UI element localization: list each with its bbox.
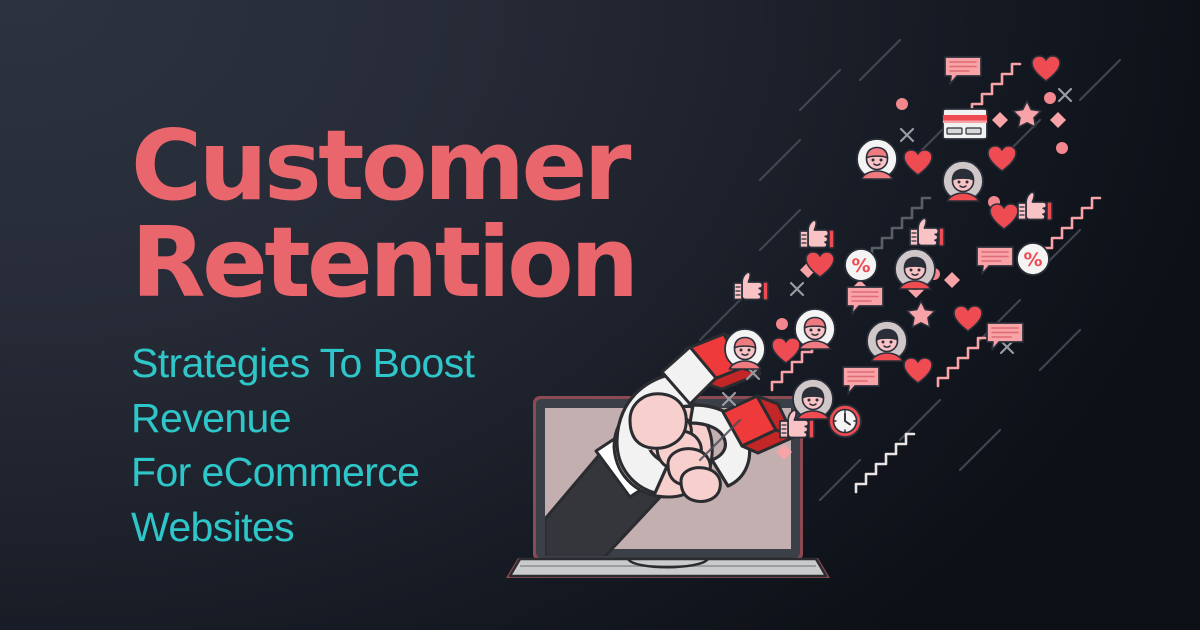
text-block: Customer Retention Strategies To Boost R…: [131, 118, 751, 554]
laptop-base: [506, 558, 830, 578]
subtitle-line-1: Strategies To Boost: [131, 336, 751, 391]
headline-line-2: Retention: [131, 215, 751, 310]
subtitle-line-4: Websites: [131, 500, 751, 555]
promo-banner: Customer Retention Strategies To Boost R…: [0, 0, 1200, 630]
subtitle-line-3: For eCommerce: [131, 445, 751, 500]
subtitle-block: Strategies To Boost Revenue For eCommerc…: [131, 336, 751, 554]
subtitle-line-2: Revenue: [131, 391, 751, 446]
headline-line-1: Customer: [131, 118, 751, 213]
